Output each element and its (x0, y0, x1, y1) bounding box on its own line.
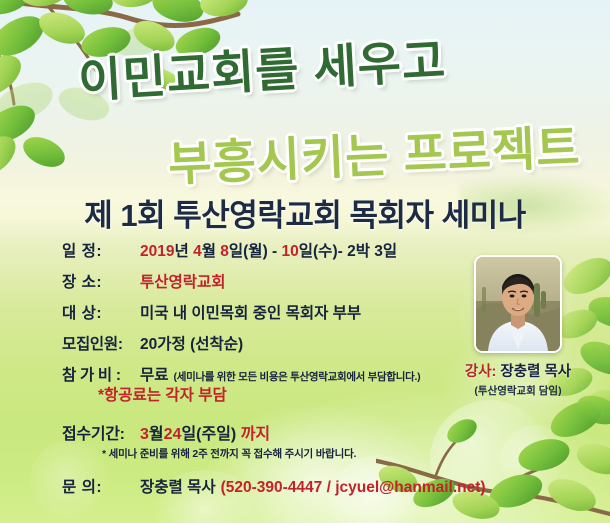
portrait-illustration (476, 257, 560, 351)
speaker-name: 강사: 장충렬 목사 (452, 360, 584, 381)
text-run: 10 (282, 243, 299, 260)
speaker-name-text: 장충렬 목사 (500, 364, 571, 380)
info-row-place: 장 소: 투산영락교회 (62, 270, 462, 292)
headline-line-1: 이민교회를 세우고 (76, 22, 447, 111)
text-run: 8 (220, 243, 229, 260)
label-place: 장 소: (62, 270, 140, 292)
info-row-deadline: 접수기간: 3월24일(주일) 까지 (62, 420, 462, 444)
text-run: 일(수)- 2박 3일 (299, 243, 397, 260)
speaker-church: (투산영락교회 담임) (452, 383, 584, 398)
text-run: 일(월) - (229, 243, 282, 260)
label-contact: 문 의: (62, 475, 140, 497)
speaker-photo (474, 255, 562, 353)
text-run: 3 (140, 426, 149, 443)
seminar-poster: 이민교회를 세우고 부흥시키는 프로젝트 제 1회 투산영락교회 목회자 세미나… (0, 0, 610, 523)
speaker-card: 강사: 장충렬 목사 (투산영락교회 담임) (452, 255, 584, 398)
info-block: 일 정: 2019년 4월 8일(월) - 10일(수)- 2박 3일 장 소:… (62, 239, 462, 506)
fee-airfare-note: *항공료는 각자 부담 (62, 383, 462, 405)
text-run: 2019 (140, 243, 174, 260)
info-row-contact: 문 의: 장충렬 목사 (520-390-4447 / jcyuel@hanma… (62, 475, 462, 497)
label-date: 일 정: (62, 239, 140, 261)
label-fee: 참 가 비 : (62, 363, 140, 385)
label-audience: 대 상: (62, 301, 140, 323)
info-row-date: 일 정: 2019년 4월 8일(월) - 10일(수)- 2박 3일 (62, 239, 462, 261)
headline-line-2: 부흥시키는 프로젝트 (167, 108, 582, 194)
text-run: 월 (202, 243, 221, 260)
text-run: 년 (174, 243, 193, 260)
info-row-fee: 참 가 비 : 무료 (세미나를 위한 모든 비용은 투산영락교회에서 부담합니… (62, 363, 462, 385)
value-date: 2019년 4월 8일(월) - 10일(수)- 2박 3일 (140, 239, 397, 261)
value-fee: 무료 (140, 363, 169, 385)
speaker-role-label: 강사: (465, 364, 497, 380)
value-capacity: 20가정 (선착순) (140, 332, 243, 354)
info-row-audience: 대 상: 미국 내 이민목회 중인 목회자 부부 (62, 301, 462, 323)
contact-name: 장충렬 목사 (140, 475, 216, 497)
info-row-capacity: 모집인원: 20가정 (선착순) (62, 332, 462, 354)
page-title: 제 1회 투산영락교회 목회자 세미나 (0, 190, 610, 235)
label-deadline: 접수기간: (62, 420, 140, 444)
value-audience: 미국 내 이민목회 중인 목회자 부부 (140, 301, 361, 323)
fee-note: (세미나를 위한 모든 비용은 투산영락교회에서 부담합니다.) (174, 369, 421, 384)
contact-detail: (520-390-4447 / jcyuel@hanmail.net) (221, 479, 486, 497)
value-deadline: 3월24일(주일) 까지 (140, 420, 270, 444)
text-run: 4 (193, 243, 202, 260)
text-run: 일(주일) (181, 426, 240, 443)
value-place: 투산영락교회 (140, 270, 226, 292)
text-run: 까지 (241, 426, 270, 443)
label-capacity: 모집인원: (62, 332, 140, 354)
text-run: 24 (164, 426, 182, 443)
text-run: 월 (149, 426, 164, 443)
deadline-note: * 세미나 준비를 위해 2주 전까지 꼭 접수해 주시기 바랍니다. (62, 446, 462, 461)
bokeh-circle (500, 425, 570, 495)
